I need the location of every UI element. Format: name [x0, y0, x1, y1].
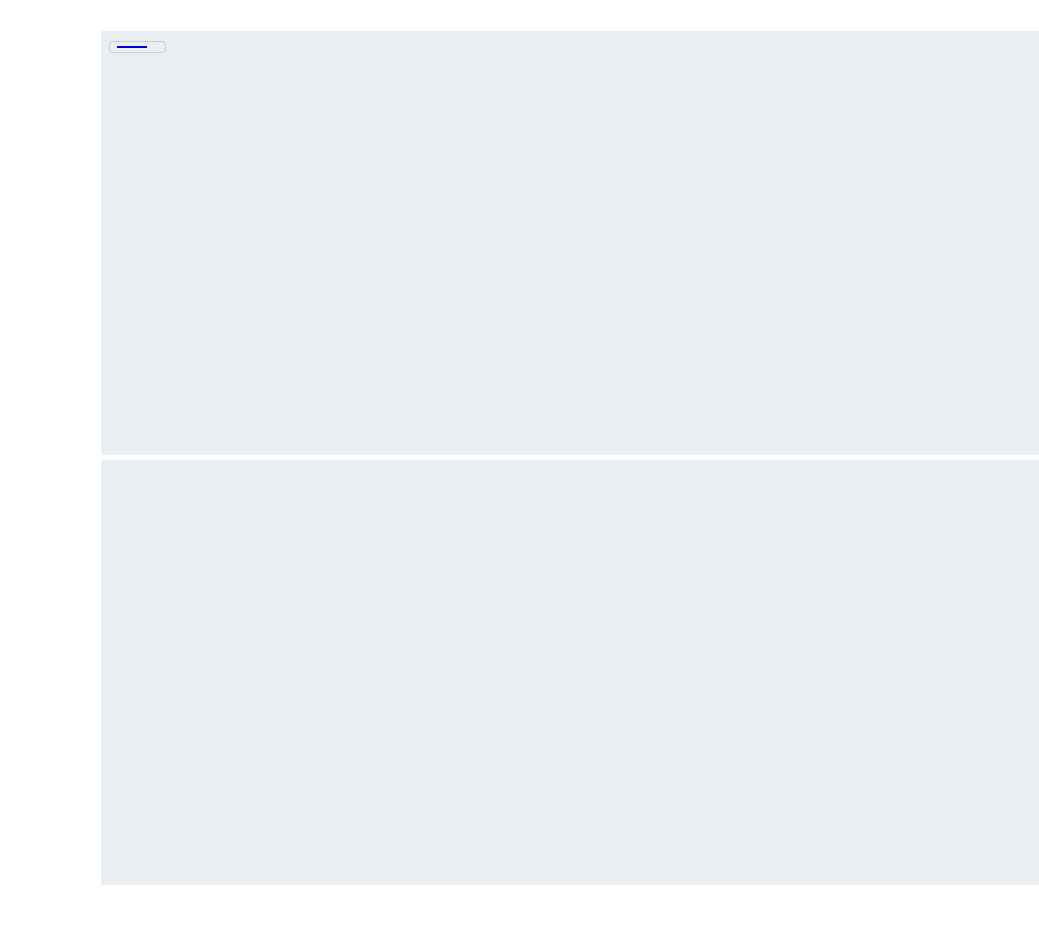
top-plot-area [101, 31, 1039, 455]
bottom-plot-area [101, 460, 1039, 885]
top-plot-panel [101, 31, 1039, 455]
chart-figure [0, 0, 1039, 942]
legend-swatch-virtu [117, 46, 147, 48]
bottom-plot-panel [101, 460, 1039, 885]
legend[interactable] [109, 41, 166, 53]
